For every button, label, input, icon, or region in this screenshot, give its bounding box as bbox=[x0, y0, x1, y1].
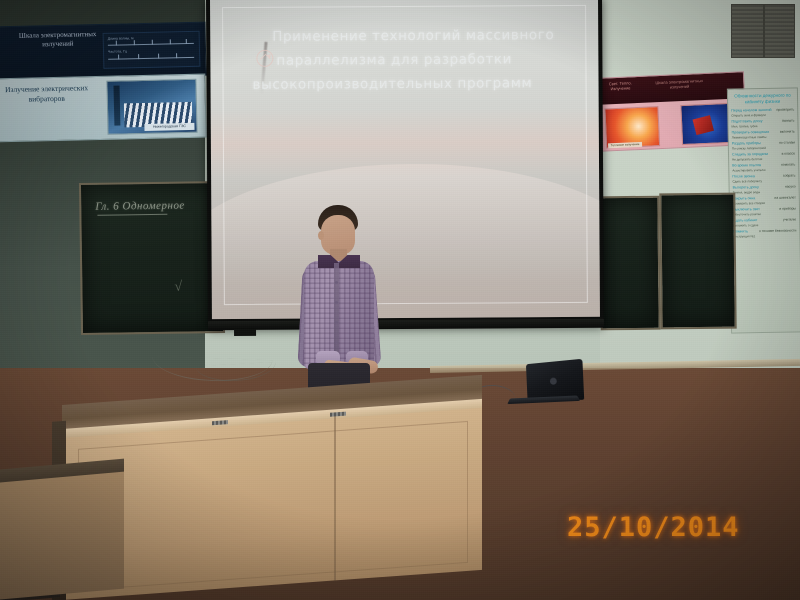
poster-duty-row-value: проветрить bbox=[776, 107, 794, 111]
poster-right-image-cool bbox=[680, 103, 730, 145]
chalkboard-left: Гл. 6 Одномерное √ bbox=[79, 181, 225, 335]
poster-duty-row-sub: Тряпка, ведро воды bbox=[733, 189, 796, 194]
poster-duty-row-sub: Доложить о сдаче bbox=[733, 222, 796, 227]
poster-left-bottom-photo: Нижегородская ГЭС bbox=[106, 79, 197, 135]
poster-duty-row-value: собрать bbox=[783, 173, 796, 177]
poster-duty-row-value: и приборы bbox=[779, 206, 796, 210]
ceiling-vent-grille-icon bbox=[731, 4, 795, 58]
laptop-lid bbox=[526, 359, 584, 400]
poster-right-caption: Тепловое излучение bbox=[608, 142, 642, 149]
poster-duty-row-key: Сдать кабинет bbox=[733, 218, 757, 222]
slide-line-2-wrap: параллелизма для разработки bbox=[256, 47, 556, 73]
poster-duty-row-value: в классе bbox=[782, 151, 795, 155]
poster-left-bottom-title: Излучение электрических вибраторов bbox=[0, 83, 92, 105]
laptop-keyboard-base bbox=[507, 395, 580, 404]
foreground-desk bbox=[0, 459, 124, 600]
poster-duty-row-value: о технике безопасности bbox=[759, 228, 796, 233]
projector-screen: Применение технологий массивного паралле… bbox=[206, 0, 604, 327]
poster-duty-row-key: Перед началом занятий bbox=[731, 108, 771, 113]
poster-duty-row-key: После звонка bbox=[732, 174, 755, 178]
poster-duty-row-value: учителю bbox=[783, 217, 796, 221]
poster-duty-row-value: на шпингалет bbox=[774, 195, 795, 199]
poster-duty-row-key: Подготовить доску bbox=[731, 119, 762, 124]
chalkboard-right-panel-b bbox=[659, 193, 736, 330]
poster-duty-list-rows: Перед началом занятийпроветритьОткрыть о… bbox=[731, 107, 796, 238]
poster-duty-list: Обязанности дежурного по кабинету физики… bbox=[727, 87, 800, 333]
poster-duty-list-heading: Обязанности дежурного по кабинету физики bbox=[731, 92, 794, 105]
poster-right-thermal: Свет. Тепло. Излучение Шкала электромагн… bbox=[594, 71, 747, 152]
poster-duty-row-sub: Обесточить розетки bbox=[733, 211, 796, 216]
slide-line-2: параллелизма для разработки bbox=[276, 51, 512, 68]
poster-duty-row-sub: Инструкция №1 bbox=[733, 233, 796, 238]
slide-line-3: высокопроизводительных программ bbox=[252, 71, 556, 97]
poster-duty-row-value: вымыть bbox=[782, 118, 794, 122]
slide-line-1: Применение технологий массивного bbox=[272, 23, 556, 49]
chalkboard-mark: √ bbox=[174, 280, 182, 296]
poster-duty-row-sub: По списку лаборантской bbox=[732, 145, 795, 150]
poster-left-bottom-caption: Нижегородская ГЭС bbox=[144, 123, 194, 131]
poster-duty-row-key: Закрыть окна bbox=[733, 196, 755, 200]
poster-duty-row-key: Вытереть доску bbox=[733, 185, 759, 189]
poster-duty-row-sub: Ассистировать учителю bbox=[732, 167, 795, 172]
poster-duty-row-value: по столам bbox=[779, 140, 795, 144]
poster-left-top-chart: Длина волны, м Частота, Гц bbox=[103, 31, 201, 69]
lecture-podium bbox=[62, 375, 482, 600]
poster-duty-row-sub: Люминесцентные лампы bbox=[732, 134, 795, 139]
slide-title-text: Применение технологий массивного паралле… bbox=[256, 23, 556, 97]
poster-duty-row-sub: Мел, тряпка, губка bbox=[731, 123, 794, 128]
poster-duty-row-value: помогать bbox=[781, 162, 795, 166]
poster-left-top-title: Шкала электромагнитных излучений bbox=[17, 30, 99, 50]
poster-duty-row-sub: Проверить все створки bbox=[733, 200, 796, 205]
poster-duty-row-key: Раздать приборы bbox=[732, 141, 761, 146]
poster-electric-vibrator-radiation: Излучение электрических вибраторов Нижег… bbox=[0, 74, 207, 143]
chalkboard-right-panel-a bbox=[599, 196, 660, 331]
poster-electromagnetic-scale: Шкала электромагнитных излучений Длина в… bbox=[0, 22, 207, 81]
circled-up-right-arrow-icon bbox=[256, 50, 273, 67]
projector-screen-foot bbox=[234, 329, 256, 336]
poster-duty-row-value: включить bbox=[780, 129, 795, 133]
poster-duty-row-key: Выключить свет bbox=[733, 207, 760, 211]
camera-date-stamp: 25/10/2014 bbox=[567, 512, 740, 543]
poster-duty-row-key: Следить за порядком bbox=[732, 152, 768, 157]
chart-axis-label-frequency: Частота, Гц bbox=[108, 49, 127, 53]
projected-slide: Применение технологий массивного паралле… bbox=[210, 0, 600, 319]
presenter-ear bbox=[318, 231, 324, 240]
poster-duty-row-key: Проверить освещение bbox=[732, 130, 770, 135]
lecture-hall-photo: Шкала электромагнитных излучений Длина в… bbox=[0, 0, 800, 600]
poster-duty-row-sub: Открыть окна и фрамуги bbox=[731, 112, 794, 117]
laptop-icon bbox=[507, 360, 585, 409]
chalkboard-text: Гл. 6 Одномерное bbox=[95, 200, 185, 213]
poster-duty-row-key: Во время опытов bbox=[732, 163, 761, 168]
chart-axis-label-wavelength: Длина волны, м bbox=[108, 36, 134, 41]
poster-duty-row-value: насухо bbox=[785, 184, 796, 188]
poster-right-header-left: Свет. Тепло. Излучение bbox=[598, 80, 642, 92]
poster-duty-row-sub: Не допускать беготни bbox=[732, 156, 795, 161]
poster-duty-row-sub: Сдать всё лаборанту bbox=[732, 178, 795, 183]
